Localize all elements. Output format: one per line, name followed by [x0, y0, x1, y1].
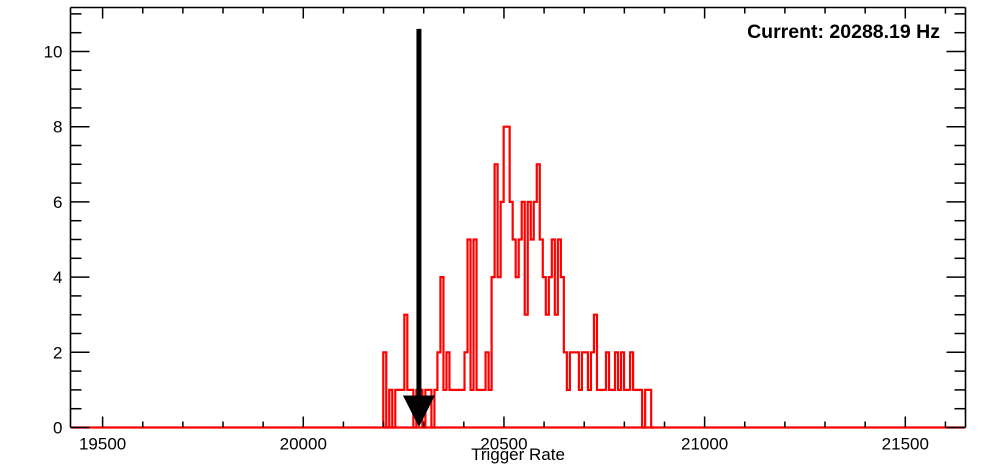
x-tick-label: 21500 [882, 435, 929, 454]
y-tick-label: 0 [53, 419, 62, 438]
x-axis-title: Trigger Rate [471, 445, 565, 464]
y-tick-label: 2 [53, 343, 62, 362]
current-rate-readout: Current: 20288.19 Hz [747, 21, 940, 43]
root-canvas: 1950020000205002100021500 0246810 Trigge… [0, 0, 996, 472]
trigger-rate-histogram-plot: 1950020000205002100021500 0246810 Trigge… [0, 0, 996, 472]
x-tick-label: 19500 [79, 435, 126, 454]
y-tick-label: 6 [53, 193, 62, 212]
x-tick-label: 21000 [681, 435, 728, 454]
y-tick-label: 8 [53, 118, 62, 137]
x-tick-label: 20000 [280, 435, 327, 454]
y-tick-label: 4 [53, 268, 62, 287]
y-tick-label: 10 [44, 42, 63, 61]
